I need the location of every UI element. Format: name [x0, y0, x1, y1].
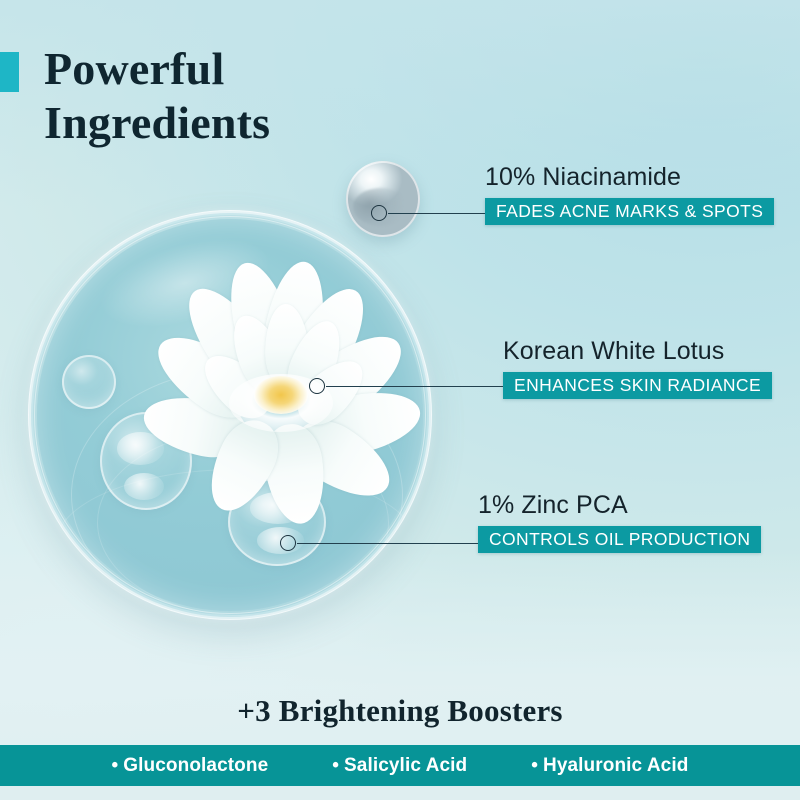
callout-badge-niacinamide: FADES ACNE MARKS & SPOTS: [485, 198, 774, 225]
leader-line-zinc: [297, 543, 487, 544]
callout-zinc-pca: 1% Zinc PCA CONTROLS OIL PRODUCTION: [478, 491, 761, 553]
footer-item-salicylic-acid: •Salicylic Acid: [332, 755, 467, 777]
callout-badge-korean-white-lotus: ENHANCES SKIN RADIANCE: [503, 372, 772, 399]
page-title-line-1: Powerful: [44, 42, 464, 96]
callout-niacinamide: 10% Niacinamide FADES ACNE MARKS & SPOTS: [485, 163, 774, 225]
footer-bottom-strip: [0, 786, 800, 800]
bubble-small: [62, 355, 116, 409]
footer-item-label: Hyaluronic Acid: [543, 755, 688, 776]
footer-item-hyaluronic-acid: •Hyaluronic Acid: [531, 755, 688, 777]
ingredient-footer-bar: •Gluconolactone •Salicylic Acid •Hyaluro…: [0, 745, 800, 786]
leader-line-niacinamide: [388, 213, 486, 214]
footer-item-gluconolactone: •Gluconolactone: [112, 755, 269, 777]
lotus-center: [254, 376, 308, 414]
callout-title-korean-white-lotus: Korean White Lotus: [503, 337, 772, 366]
leader-line-lotus: [326, 386, 510, 387]
marker-niacinamide: [371, 205, 387, 221]
footer-item-label: Gluconolactone: [123, 755, 268, 776]
marker-lotus: [309, 378, 325, 394]
page-title: Powerful Ingredients: [44, 42, 464, 150]
bullet-icon: •: [112, 755, 119, 776]
marker-zinc: [280, 535, 296, 551]
footer-item-label: Salicylic Acid: [344, 755, 467, 776]
white-water-lily: [150, 276, 412, 488]
callout-title-niacinamide: 10% Niacinamide: [485, 163, 774, 192]
callout-badge-zinc-pca: CONTROLS OIL PRODUCTION: [478, 526, 761, 553]
bullet-icon: •: [332, 755, 339, 776]
accent-square: [0, 52, 19, 92]
callout-title-zinc-pca: 1% Zinc PCA: [478, 491, 761, 520]
page-title-line-2: Ingredients: [44, 96, 464, 150]
callout-korean-white-lotus: Korean White Lotus ENHANCES SKIN RADIANC…: [503, 337, 772, 399]
silver-sphere: [346, 161, 420, 237]
infographic-canvas: 10% Niacinamide FADES ACNE MARKS & SPOTS…: [0, 0, 800, 800]
bullet-icon: •: [531, 755, 538, 776]
boosters-headline: +3 Brightening Boosters: [0, 693, 800, 729]
